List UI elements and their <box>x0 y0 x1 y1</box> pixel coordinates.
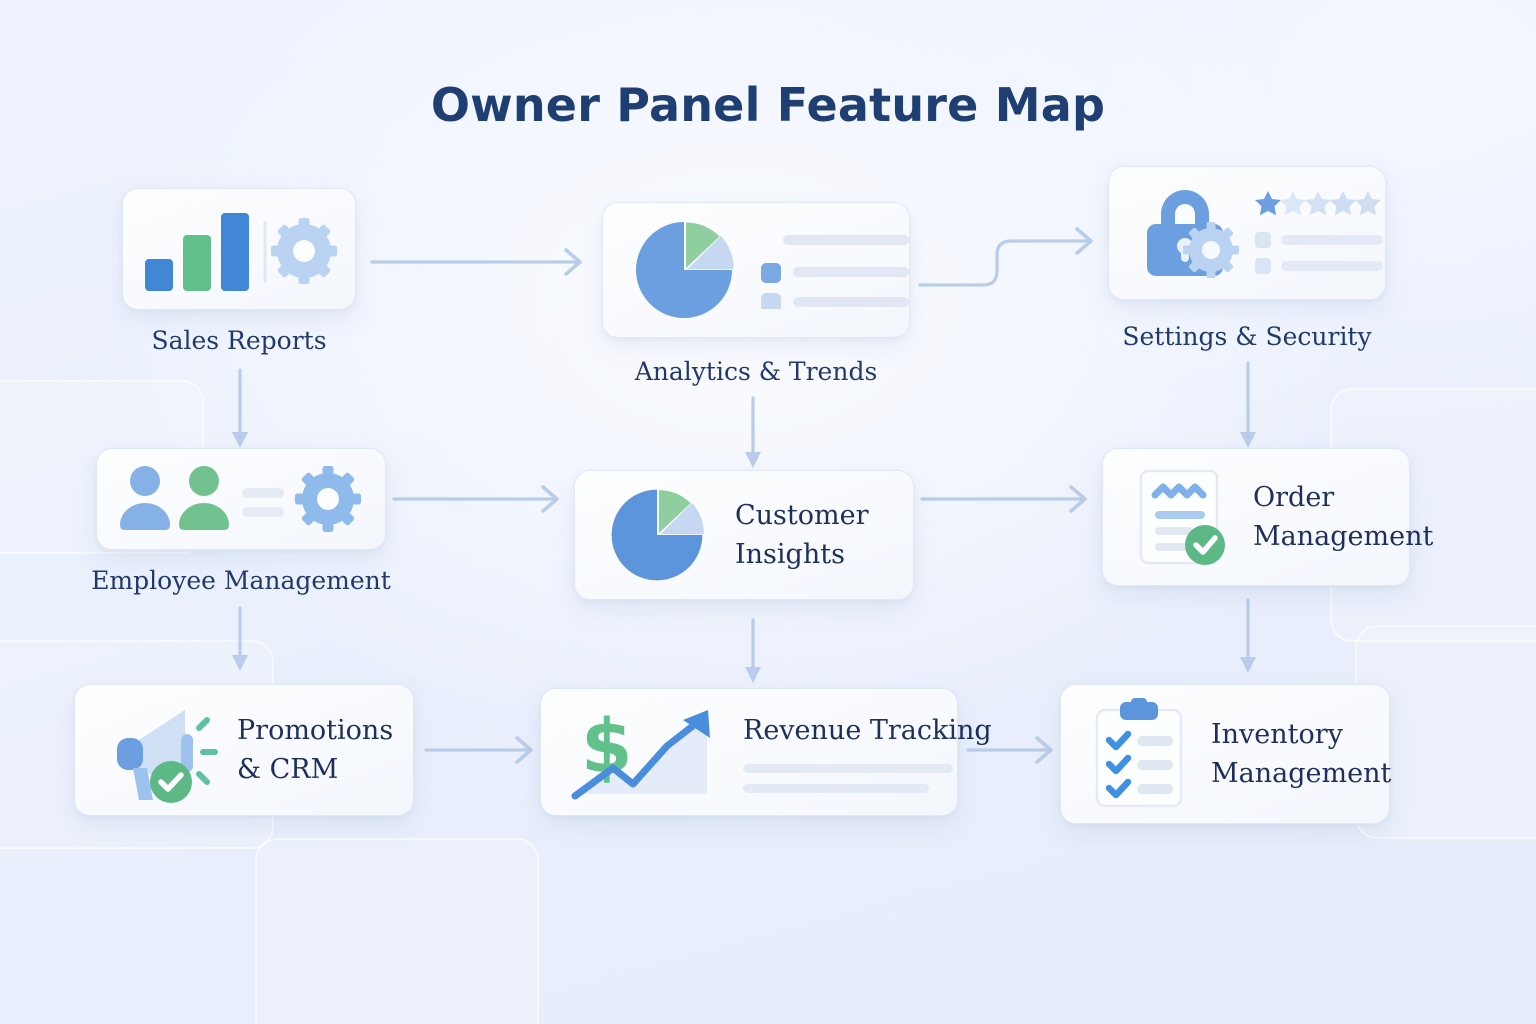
document-with-check-icon <box>1131 465 1231 569</box>
placeholder-line <box>743 764 953 773</box>
node-label-inventory-management: Inventory Management <box>1211 715 1391 793</box>
node-label-revenue-tracking: Revenue Tracking <box>743 711 992 750</box>
node-label-order-management: Order Management <box>1253 478 1433 556</box>
node-revenue-tracking[interactable]: $ Revenue Tracking <box>540 688 958 816</box>
connector-sales-reports-to-analytics-trends <box>372 250 580 274</box>
node-label-promotions-crm: Promotions & CRM <box>237 711 393 789</box>
pie-chart-with-legend-icon <box>629 215 739 325</box>
legend-placeholder-icon <box>761 231 909 309</box>
background-watermark-5 <box>255 838 539 1024</box>
connector-order-management-to-inventory-management <box>1240 600 1256 673</box>
node-customer-insights[interactable]: Customer Insights <box>574 470 914 600</box>
node-promotions-crm[interactable]: Promotions & CRM <box>74 684 414 816</box>
connector-settings-security-to-order-management <box>1240 363 1256 448</box>
node-analytics-trends[interactable] <box>602 202 910 338</box>
connector-sales-reports-to-employee-management <box>232 370 248 448</box>
two-users-and-gear-icon <box>116 463 366 535</box>
connector-analytics-trends-to-settings-security <box>920 229 1091 285</box>
node-label-analytics-trends: Analytics & Trends <box>572 357 940 386</box>
page-title: Owner Panel Feature Map <box>0 78 1536 132</box>
node-label-line-2: Management <box>1253 521 1433 552</box>
node-label-line-2: Management <box>1211 758 1391 789</box>
node-label-settings-security: Settings & Security <box>1058 322 1436 351</box>
node-label-line-1: Inventory <box>1211 719 1343 750</box>
connector-analytics-trends-to-customer-insights <box>745 398 761 468</box>
placeholder-line <box>743 784 929 793</box>
pie-chart-icon <box>605 483 709 587</box>
connector-customer-insights-to-revenue-tracking <box>745 620 761 683</box>
dollar-growth-chart-icon: $ <box>567 702 717 802</box>
node-label-line-1: Order <box>1253 482 1334 513</box>
connector-employee-management-to-promotions-crm <box>232 608 248 671</box>
bar-chart-and-gear-icon <box>137 207 342 291</box>
node-label-line-1: Promotions <box>237 715 393 746</box>
clipboard-checklist-icon <box>1087 698 1191 810</box>
node-label-customer-insights: Customer Insights <box>735 496 869 574</box>
feature-map-canvas: Owner Panel Feature Map .ln { stroke:#b9… <box>0 0 1536 1024</box>
node-label-line-1: Customer <box>735 500 869 531</box>
revenue-text-block: Revenue Tracking <box>743 711 992 793</box>
lock-gear-icon <box>1131 184 1239 282</box>
star-rating-and-lines-icon <box>1255 190 1383 276</box>
node-sales-reports[interactable] <box>122 188 356 310</box>
node-settings-security[interactable] <box>1108 166 1386 300</box>
megaphone-with-check-icon <box>99 696 223 804</box>
node-label-sales-reports: Sales Reports <box>122 326 356 355</box>
node-order-management[interactable]: Order Management <box>1102 448 1410 586</box>
connector-employee-management-to-customer-insights <box>394 487 557 511</box>
node-label-employee-management: Employee Management <box>56 566 426 595</box>
node-employee-management[interactable] <box>96 448 386 550</box>
node-label-line-2: & CRM <box>237 754 338 785</box>
placeholder-lines <box>743 764 992 793</box>
connector-customer-insights-to-order-management <box>922 487 1085 511</box>
connector-promotions-crm-to-revenue-tracking <box>426 738 531 762</box>
node-label-line-2: Insights <box>735 539 845 570</box>
node-inventory-management[interactable]: Inventory Management <box>1060 684 1390 824</box>
